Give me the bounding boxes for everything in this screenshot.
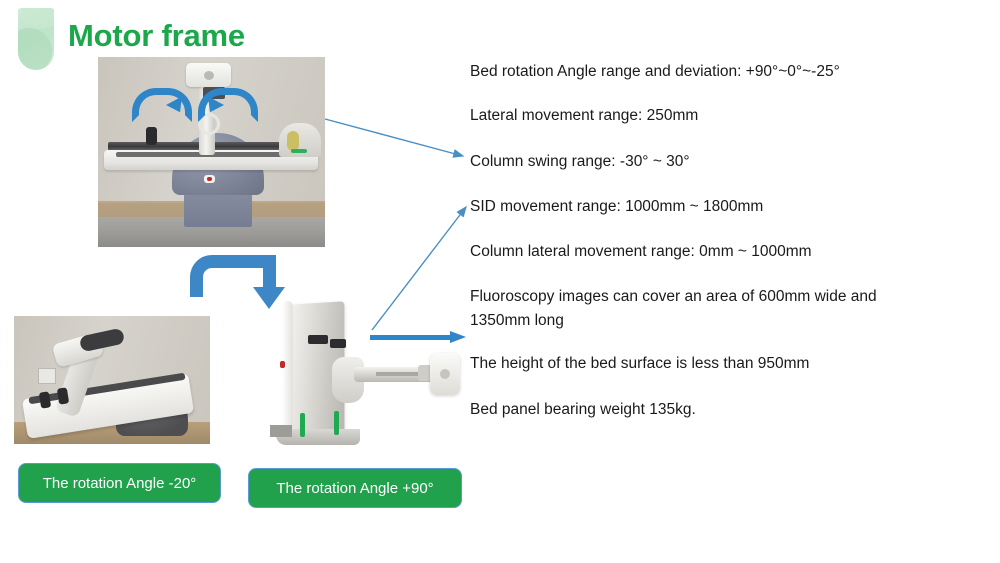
- radiographic-table-tilted-photo: [14, 316, 210, 444]
- spec-sid-movement: SID movement range: 1000mm ~ 1800mm: [470, 195, 763, 219]
- rotate-left-arrow-icon: [128, 88, 184, 118]
- spec-bed-panel-weight: Bed panel bearing weight 135kg.: [470, 398, 696, 422]
- spec-bed-height: The height of the bed surface is less th…: [470, 352, 809, 376]
- slide-canvas: Motor frame: [0, 0, 1000, 563]
- sid-arrow-line: [370, 335, 450, 340]
- leaf-capsule-logo-icon: [18, 8, 54, 70]
- spec-bed-rotation: Bed rotation Angle range and deviation: …: [470, 60, 840, 84]
- spec-column-lateral: Column lateral movement range: 0mm ~ 100…: [470, 240, 812, 264]
- bucky-clamp: [308, 335, 328, 344]
- table-knob: [146, 127, 157, 145]
- green-cable-guide-secondary: [334, 411, 339, 435]
- badge-rotation-pos-90: The rotation Angle +90°: [248, 468, 462, 508]
- radiographic-stand-vertical-photo: [272, 295, 472, 445]
- green-cable-guide: [300, 413, 305, 437]
- spec-fluoroscopy-coverage: Fluoroscopy images can cover an area of …: [470, 285, 877, 332]
- green-accessory-rail: [291, 149, 307, 153]
- sid-movement-arrow-icon: [370, 331, 466, 343]
- emergency-stop-button: [204, 175, 215, 183]
- radiographic-table-front-photo: [98, 57, 325, 247]
- x-ray-tube-head: [186, 63, 231, 87]
- elbow-arrow-stem: [263, 255, 276, 289]
- rotate-right-arrow-icon: [206, 88, 262, 118]
- page-title: Motor frame: [68, 18, 245, 54]
- wall-control-box: [38, 368, 56, 384]
- sid-arrow-head: [450, 331, 466, 343]
- bucky-clamp-secondary: [330, 339, 346, 348]
- stand-foot: [270, 425, 292, 437]
- badge-rotation-neg-20: The rotation Angle -20°: [18, 463, 221, 503]
- spec-lateral-movement: Lateral movement range: 250mm: [470, 104, 698, 128]
- x-ray-tube-head: [430, 353, 460, 395]
- connector-to-column-swing: [325, 119, 463, 156]
- indicator-light: [280, 361, 285, 368]
- spec-column-swing: Column swing range: -30° ~ 30°: [470, 150, 690, 174]
